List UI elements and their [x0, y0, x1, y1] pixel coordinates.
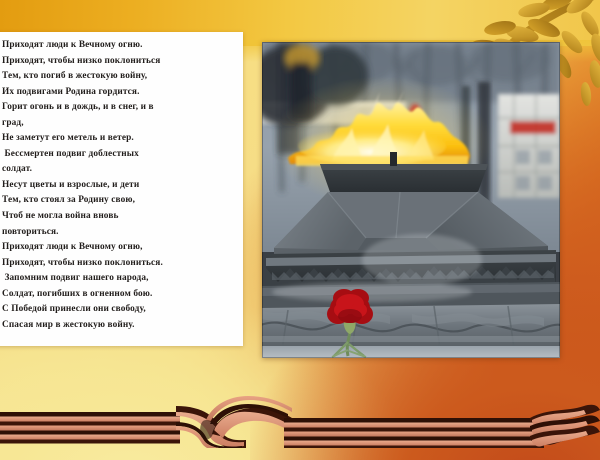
poem-line: солдат. — [2, 162, 236, 178]
poem-line: Не заметут его метель и ветер. — [2, 131, 236, 147]
poem-line: повториться. — [2, 225, 236, 241]
poem-line: Их подвигами Родина гордится. — [2, 85, 236, 101]
poem-line: Приходят, чтобы низко поклониться. — [2, 256, 236, 272]
poem-line: С Победой принесли они свободу, — [2, 302, 236, 318]
poem-line: Приходят люди к Вечному огню. — [2, 38, 236, 54]
poem-line: Приходят люди к Вечному огню, — [2, 240, 236, 256]
st-george-ribbon — [0, 378, 600, 448]
poem-line: Бессмертен подвиг доблестных — [2, 147, 236, 163]
poem-line: град, — [2, 116, 236, 132]
ribbon-twist-knot — [176, 396, 292, 448]
ribbon-ruffled-tail — [530, 405, 600, 447]
poem-line: Солдат, погибших в огненном бою. — [2, 287, 236, 303]
poem-line: Тем, кто стоял за Родину свою, — [2, 193, 236, 209]
poem-line: Запомним подвиг нашего народа, — [2, 271, 236, 287]
poem-line: Приходят, чтобы низко поклониться — [2, 54, 236, 70]
poem-line: Спасая мир в жестокую войну. — [2, 318, 236, 334]
poem-line: Горит огонь и в дождь, и в снег, и в — [2, 100, 236, 116]
poem-body: Приходят люди к Вечному огню. Приходят, … — [0, 32, 243, 333]
st-george-ribbon-artwork — [0, 378, 600, 448]
poem-line: Несут цветы и взрослые, и дети — [2, 178, 236, 194]
eternal-flame-photograph: АЯ — [262, 42, 560, 358]
ribbon-left-segment — [0, 412, 180, 444]
presentation-slide: Приходят люди к Вечному огню. Приходят, … — [0, 0, 600, 460]
ribbon-right-segment — [284, 418, 544, 448]
poem-line: Чтоб не могла война вновь — [2, 209, 236, 225]
photograph-artwork: АЯ — [262, 42, 560, 358]
poem-text-box: Приходят люди к Вечному огню. Приходят, … — [0, 32, 243, 346]
poem-line: Тем, кто погиб в жестокую войну, — [2, 69, 236, 85]
